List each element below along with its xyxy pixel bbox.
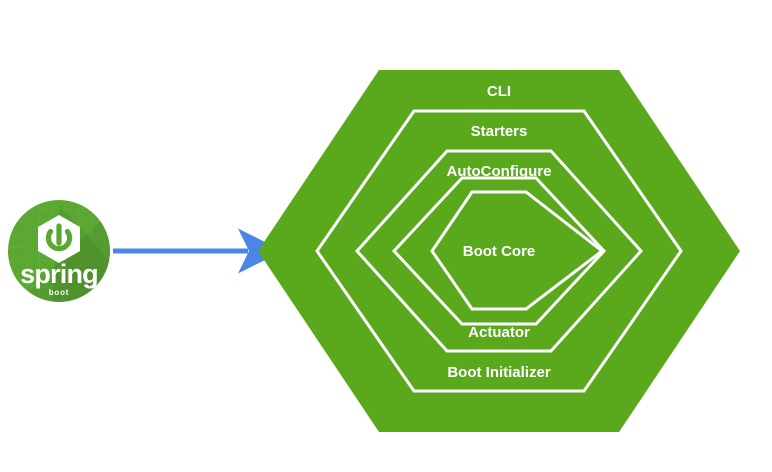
hexagon-label-autoconfigure: AutoConfigure bbox=[447, 163, 552, 180]
hexagon-label-actuator: Actuator bbox=[468, 324, 530, 341]
hexagon-label-boot-core: Boot Core bbox=[463, 243, 536, 260]
spring-boot-logo: spring boot bbox=[8, 200, 110, 302]
hexagon-label-cli: CLI bbox=[487, 83, 511, 100]
hexagon-label-starters: Starters bbox=[471, 123, 528, 140]
hexagon-stack: CLI Starters AutoConfigure Boot Core Act… bbox=[258, 70, 740, 432]
hexagon-label-boot-initializer: Boot Initializer bbox=[447, 364, 551, 381]
spring-boot-architecture-diagram: spring boot CLI Starters AutoConfigure B… bbox=[0, 0, 772, 472]
logo-secondary-text: boot bbox=[49, 288, 70, 297]
diagram-canvas: spring boot CLI Starters AutoConfigure B… bbox=[0, 0, 772, 472]
logo-primary-text: spring bbox=[20, 259, 98, 289]
